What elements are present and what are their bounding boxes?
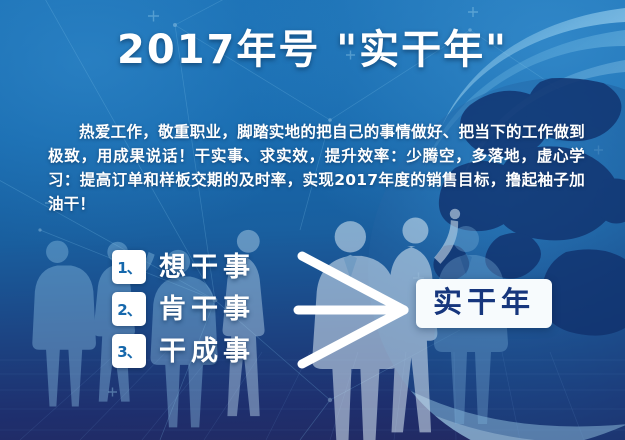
status-badge: 实干年 bbox=[416, 279, 552, 328]
list-item[interactable]: 1、 想干事 bbox=[112, 248, 255, 286]
list-item-label: 干成事 bbox=[159, 338, 255, 365]
poster-content: 2017年号 "实干年" 热爱工作，敬重职业，脚踏实地的把自己的事情做好、把当下… bbox=[0, 0, 625, 440]
body-paragraph: 热爱工作，敬重职业，脚踏实地的把自己的事情做好、把当下的工作做到极致，用成果说话… bbox=[48, 120, 585, 216]
list-item-label: 想干事 bbox=[159, 254, 255, 281]
poster-canvas: 2017年号 "实干年" 热爱工作，敬重职业，脚踏实地的把自己的事情做好、把当下… bbox=[0, 0, 625, 440]
list-item-label: 肯干事 bbox=[159, 296, 255, 323]
list-item-number-badge: 1、 bbox=[112, 250, 146, 284]
list-item-number-badge: 3、 bbox=[112, 334, 146, 368]
goal-list: 1、 想干事 2、 肯干事 3、 干成事 bbox=[112, 248, 255, 370]
list-item[interactable]: 2、 肯干事 bbox=[112, 290, 255, 328]
status-badge-label: 实干年 bbox=[433, 288, 535, 317]
list-item-number-badge: 2、 bbox=[112, 292, 146, 326]
right-arrow-icon bbox=[292, 248, 422, 372]
page-title: 2017年号 "实干年" bbox=[0, 28, 625, 72]
list-item[interactable]: 3、 干成事 bbox=[112, 332, 255, 370]
